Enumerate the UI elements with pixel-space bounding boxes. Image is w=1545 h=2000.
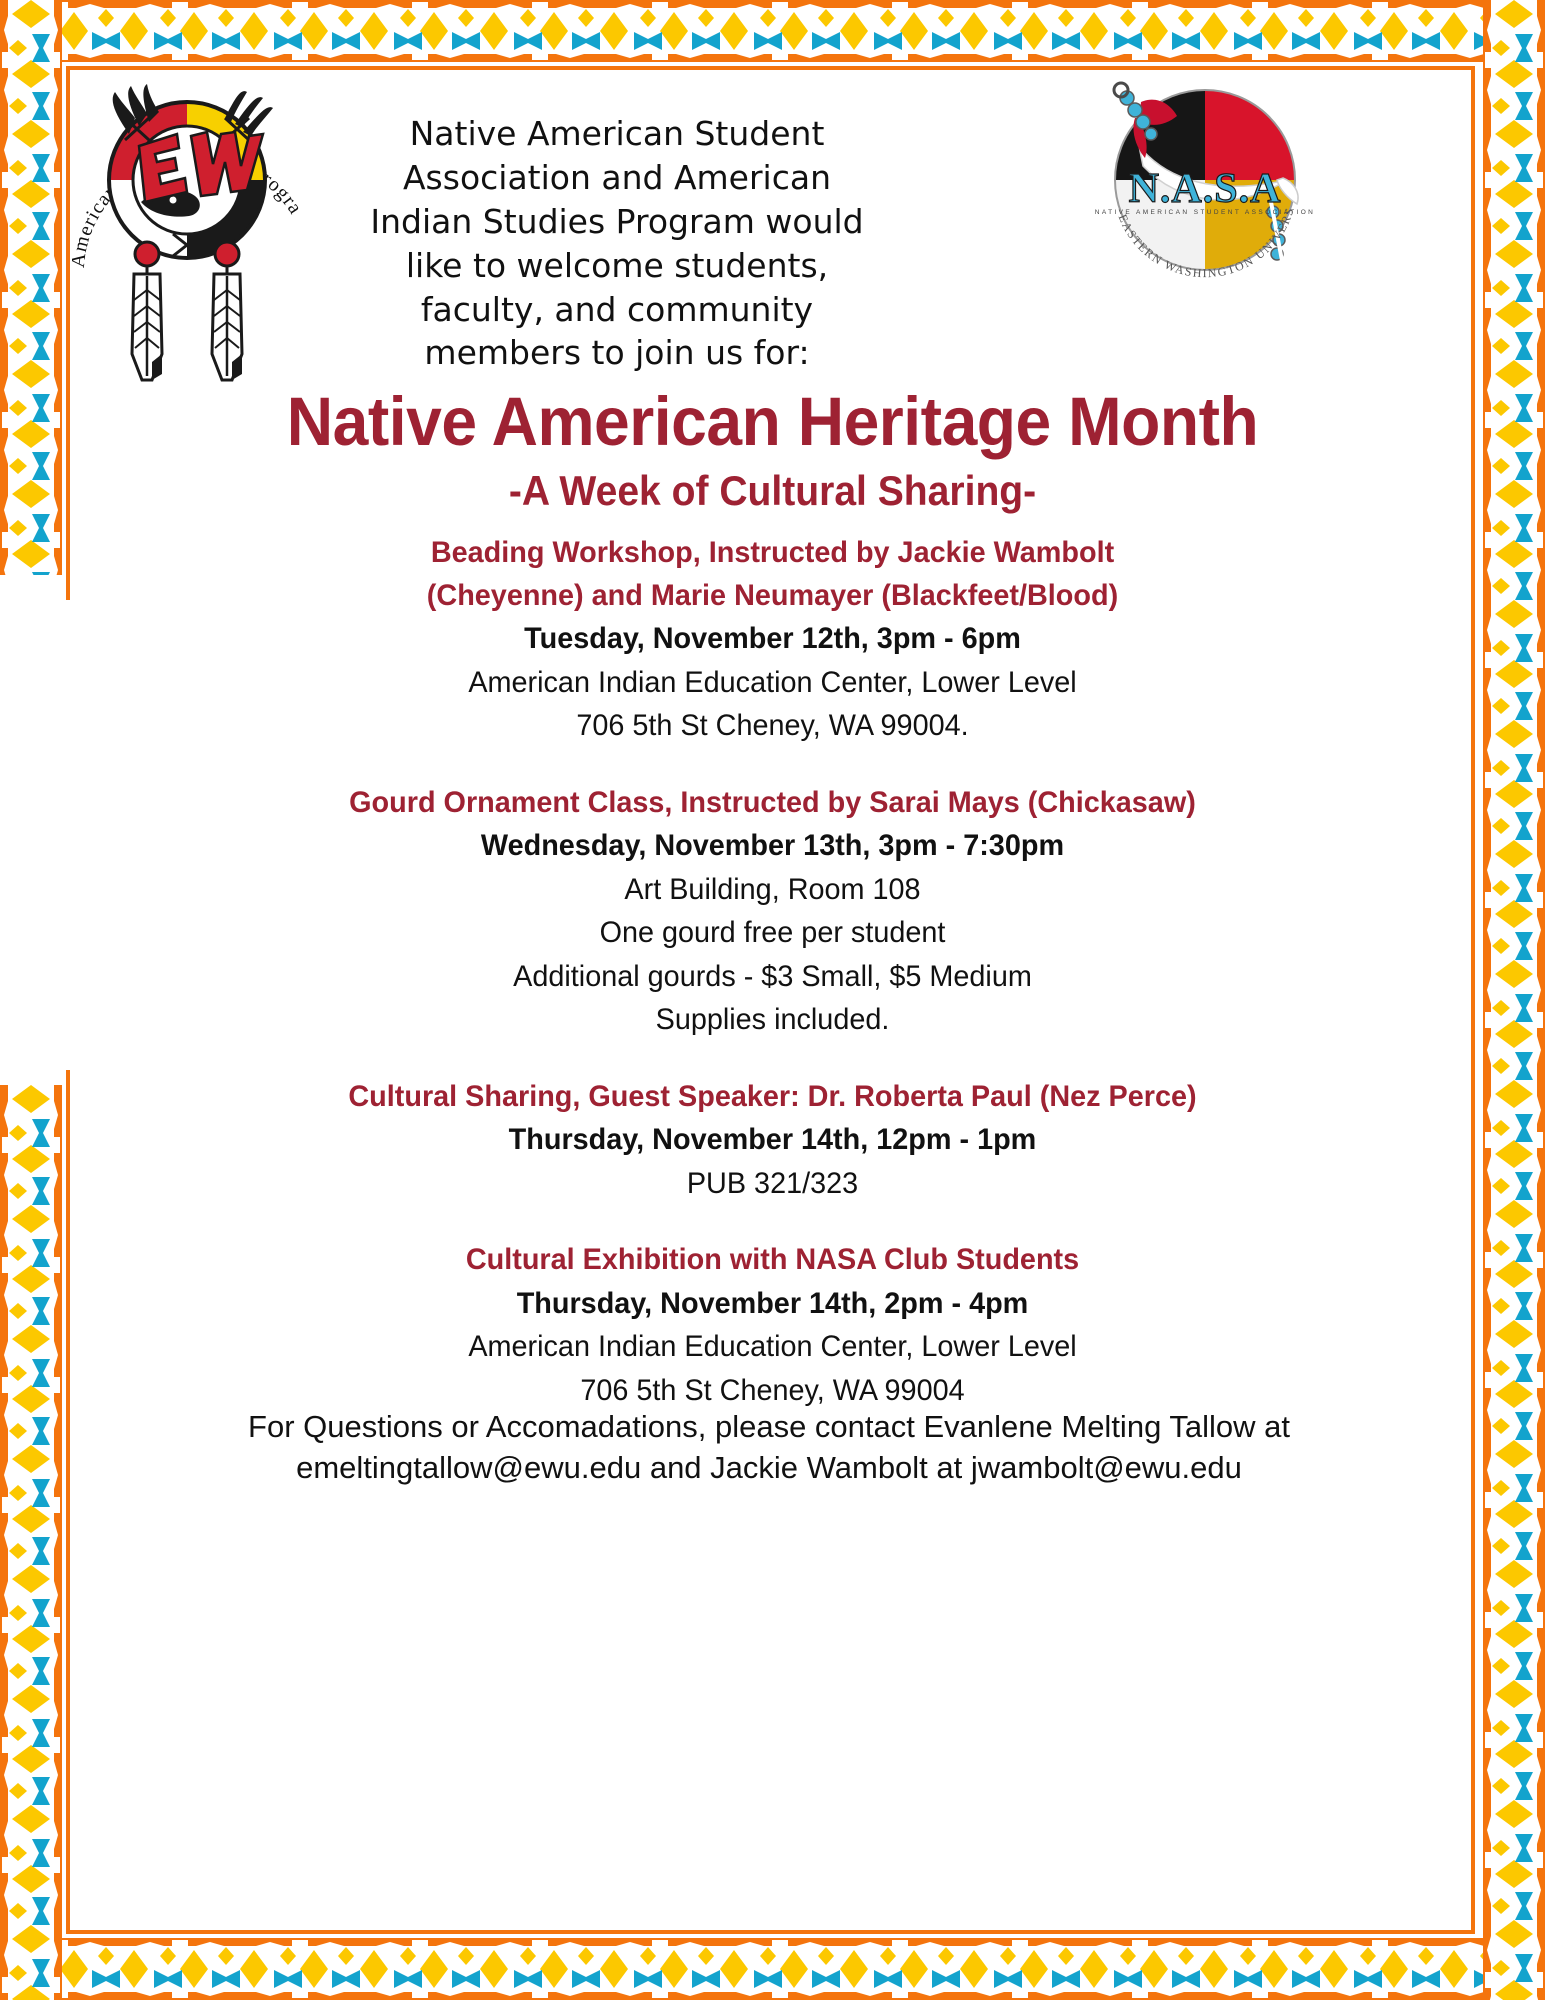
- events-list: Beading Workshop, Instructed by Jackie W…: [62, 532, 1483, 1446]
- event-detail-line: One gourd free per student: [90, 911, 1454, 955]
- page-subtitle: -A Week of Cultural Sharing-: [112, 467, 1434, 515]
- border-band-right: [1483, 0, 1545, 2000]
- nasa-club-logo: N.A.S.A NATIVE AMERICAN STUDENT ASSOCIAT…: [1087, 62, 1322, 297]
- event-block: Cultural Exhibition with NASA Club Stude…: [62, 1239, 1483, 1412]
- border-pattern-horizontal: [0, 1938, 1545, 2000]
- event-title-line: Cultural Sharing, Guest Speaker: Dr. Rob…: [90, 1076, 1454, 1119]
- event-block: Beading Workshop, Instructed by Jackie W…: [62, 532, 1483, 748]
- event-title-line: Gourd Ornament Class, Instructed by Sara…: [90, 782, 1454, 825]
- event-detail-line: American Indian Education Center, Lower …: [90, 1325, 1454, 1369]
- event-title-line: Cultural Exhibition with NASA Club Stude…: [90, 1239, 1454, 1282]
- border-band-left-upper: [0, 0, 62, 575]
- event-title-line: Beading Workshop, Instructed by Jackie W…: [90, 532, 1454, 575]
- page-title: Native American Heritage Month: [112, 382, 1434, 461]
- event-datetime: Thursday, November 14th, 2pm - 4pm: [90, 1282, 1454, 1326]
- border-pattern-horizontal: [0, 0, 1545, 62]
- border-band-bottom: [0, 1938, 1545, 2000]
- contact-line-2: emeltingtallow@ewu.edu and Jackie Wambol…: [14, 1448, 1524, 1489]
- event-datetime: Wednesday, November 13th, 3pm - 7:30pm: [90, 824, 1454, 868]
- event-detail-line: 706 5th St Cheney, WA 99004: [90, 1369, 1454, 1413]
- event-detail-line: Supplies included.: [90, 998, 1454, 1042]
- event-detail-line: American Indian Education Center, Lower …: [90, 661, 1454, 705]
- border-pattern-vertical: [0, 1085, 62, 2000]
- svg-text:N.A.S.A: N.A.S.A: [1129, 166, 1282, 212]
- event-detail-line: PUB 321/323: [90, 1162, 1454, 1206]
- event-detail-line: 706 5th St Cheney, WA 99004.: [90, 704, 1454, 748]
- contact-block: For Questions or Accomadations, please c…: [14, 1407, 1524, 1489]
- event-datetime: Thursday, November 14th, 12pm - 1pm: [90, 1118, 1454, 1162]
- event-title-line: (Cheyenne) and Marie Neumayer (Blackfeet…: [90, 575, 1454, 618]
- intro-paragraph: Native American Student Association and …: [362, 112, 872, 375]
- event-detail-line: Additional gourds - $3 Small, $5 Medium: [90, 955, 1454, 999]
- border-band-top: [0, 0, 1545, 62]
- event-datetime: Tuesday, November 12th, 3pm - 6pm: [90, 617, 1454, 661]
- border-pattern-vertical: [0, 0, 62, 575]
- border-pattern-vertical: [1483, 0, 1545, 2000]
- border-band-left-lower: [0, 1085, 62, 2000]
- event-block: Cultural Sharing, Guest Speaker: Dr. Rob…: [62, 1076, 1483, 1206]
- event-detail-line: Art Building, Room 108: [90, 868, 1454, 912]
- flyer-content: American Indian Studies Program: [62, 62, 1483, 1938]
- american-indian-studies-program-logo: American Indian Studies Program: [72, 62, 302, 392]
- contact-line-1: For Questions or Accomadations, please c…: [14, 1407, 1524, 1448]
- event-block: Gourd Ornament Class, Instructed by Sara…: [62, 782, 1483, 1042]
